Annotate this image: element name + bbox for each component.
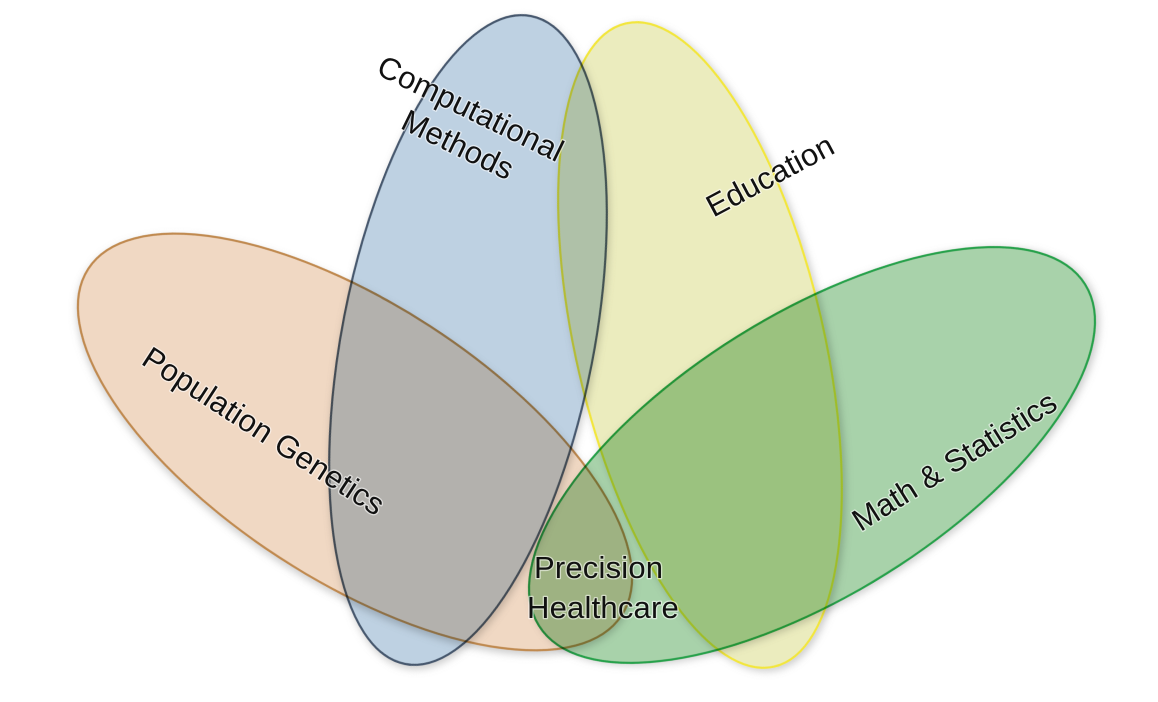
venn-diagram-canvas: Computational Methods Education Populati…	[0, 0, 1158, 702]
label-precision-line2: Healthcare	[527, 590, 679, 625]
label-precision-line1: Precision	[534, 550, 663, 585]
venn-diagram-svg: Computational Methods Education Populati…	[0, 0, 1158, 702]
